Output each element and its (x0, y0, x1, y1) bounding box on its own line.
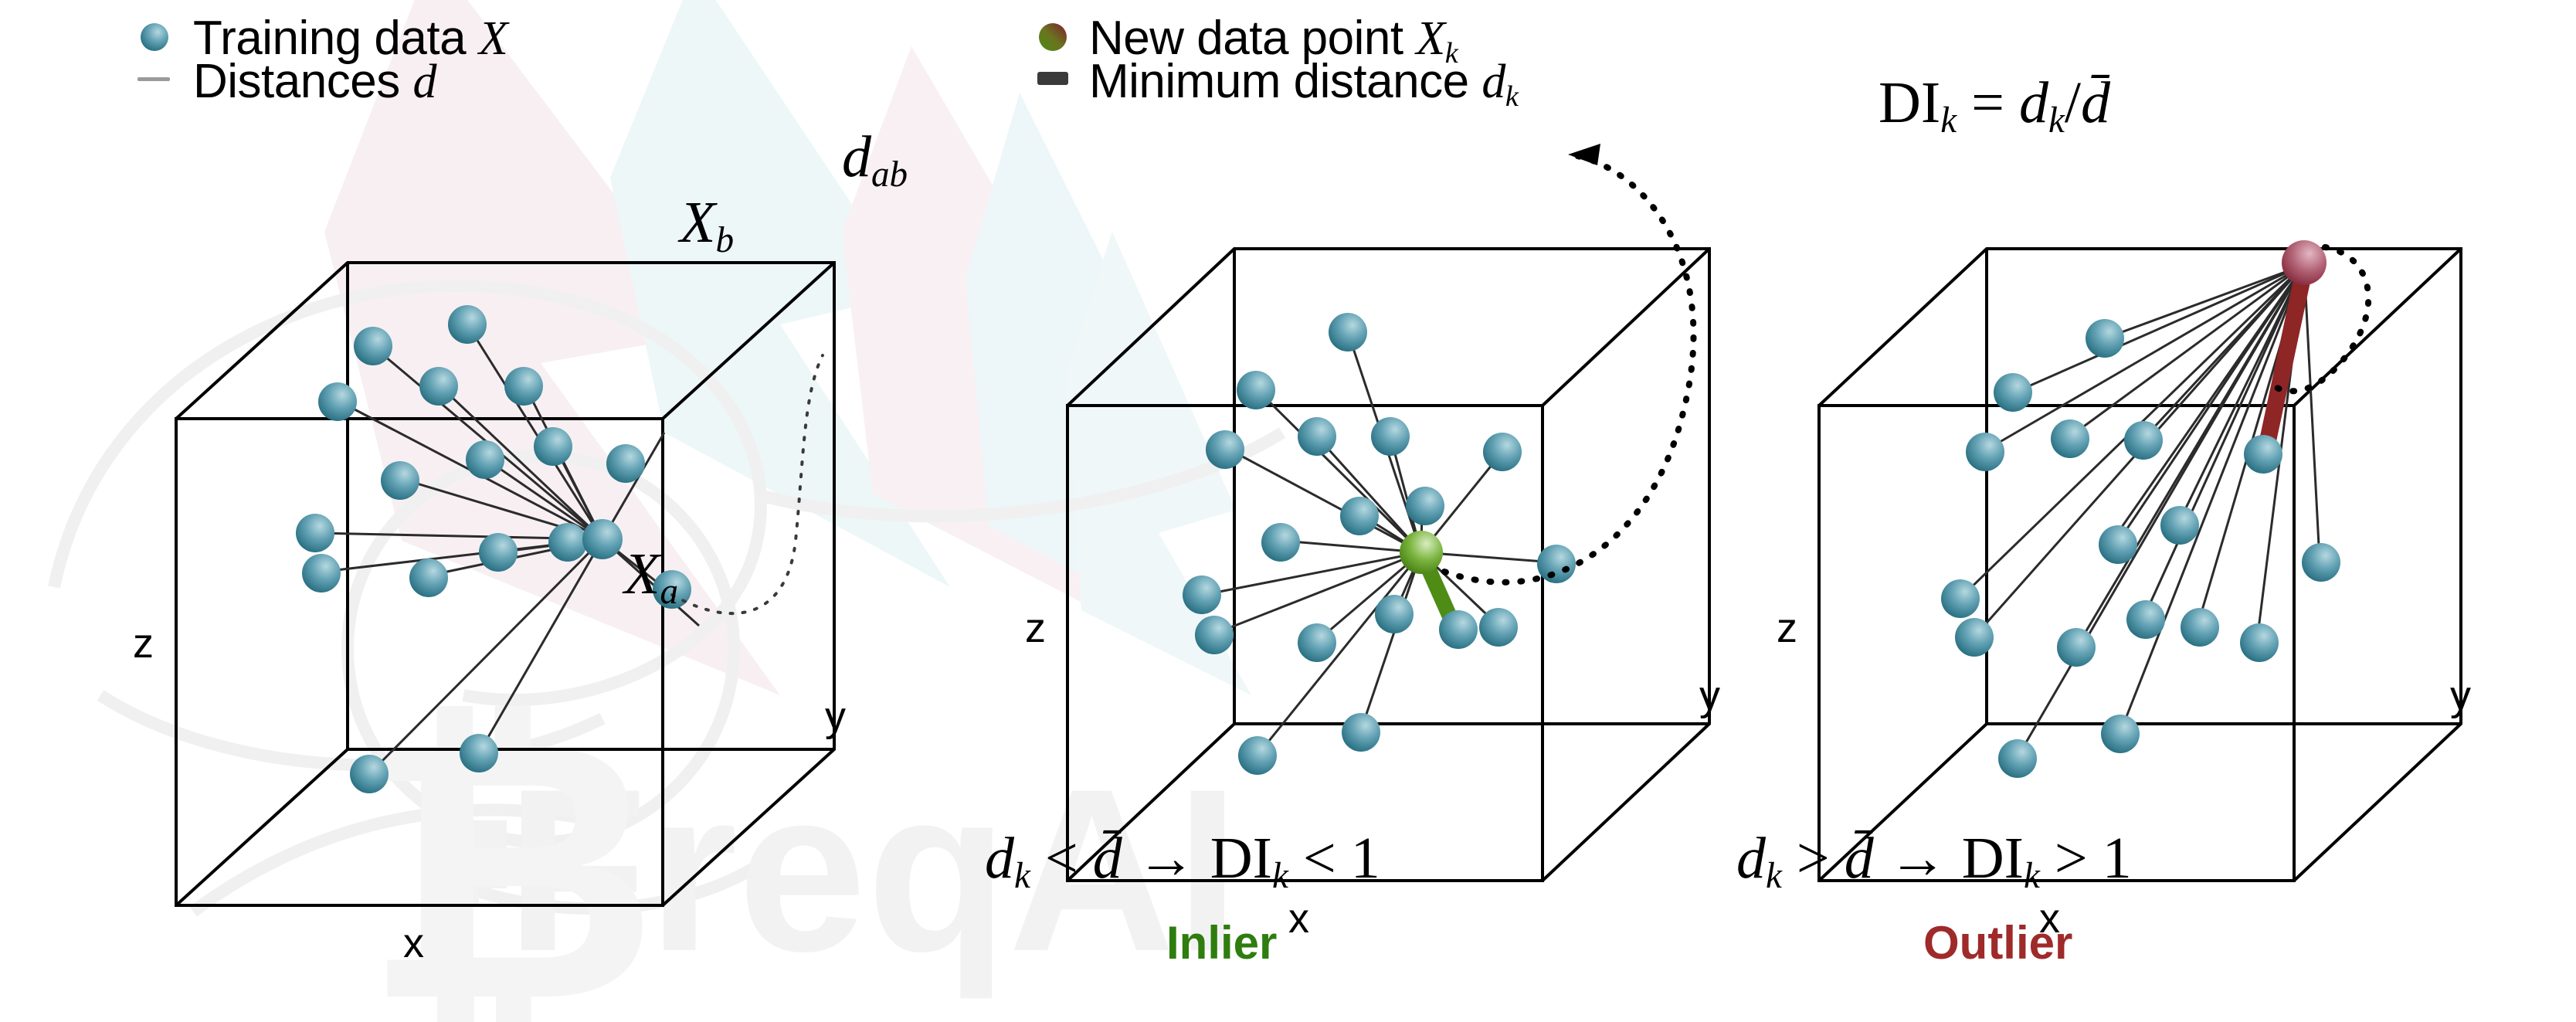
legend-symbol-dk: d (1481, 56, 1505, 108)
legend-item-distances: Distances d (193, 54, 436, 110)
outlier-rel: > (1797, 826, 1830, 891)
inlier-d-sub: k (1014, 856, 1030, 896)
xa-label: Xa (624, 541, 678, 613)
axis-label-y-2: y (1699, 672, 1720, 720)
inlier-di: DI (1210, 826, 1272, 891)
di-formula-eq: = (1971, 70, 2004, 135)
axis-label-z-2: z (1025, 604, 1046, 652)
inlier-rel2: < (1303, 826, 1336, 891)
legend-symbol-dk-sub: k (1505, 80, 1519, 113)
inlier-arrow: → (1137, 826, 1196, 891)
inlier-dbar: d̄ (1093, 826, 1122, 891)
point-xk-outlier (2282, 240, 2327, 285)
legend-symbol-X: X (479, 12, 507, 65)
outlier-d-sub: k (1766, 856, 1782, 896)
caption-formula-inlier: dk < d̄ → DIk < 1 (985, 825, 1380, 897)
dab-sub: ab (871, 154, 908, 195)
xb-sub: b (715, 220, 734, 260)
training-points-2 (1183, 313, 1576, 775)
outlier-arrow: → (1889, 826, 1947, 891)
legend-dash-dark-icon (1037, 72, 1068, 85)
di-formula-den: d̄ (2081, 70, 2110, 135)
outlier-value: 1 (2103, 826, 2132, 891)
di-formula-slash: / (2065, 70, 2081, 135)
di-formula-lhs: DI (1879, 70, 1940, 135)
dab-symbol: d (842, 124, 871, 189)
outlier-dbar: d̄ (1845, 826, 1874, 891)
panel-inlier (1067, 144, 1709, 881)
inlier-di-sub: k (1272, 856, 1288, 896)
dab-connector (672, 355, 823, 613)
dk-arrowhead (1568, 144, 1600, 165)
outlier-rel2: > (2055, 826, 2088, 891)
verdict-outlier: Outlier (1923, 916, 2072, 969)
axis-label-z-1: z (133, 620, 154, 667)
caption-formula-outlier: dk > d̄ → DIk > 1 (1736, 825, 2132, 897)
legend-label-min-distance: Minimum distance (1089, 55, 1469, 108)
legend-item-min-distance: Minimum distance dk (1089, 54, 1518, 114)
diagram-canvas: FreqAI ₿ (0, 0, 2576, 1022)
inlier-value: 1 (1351, 826, 1380, 891)
dab-label: dab (842, 124, 908, 195)
inlier-rel: < (1045, 826, 1078, 891)
di-formula-num: d (2019, 70, 2048, 135)
legend-label-distances: Distances (193, 55, 400, 108)
di-formula-lhs-sub: k (1940, 100, 1957, 141)
xa-sub: a (660, 572, 678, 612)
axis-label-y-3: y (2450, 672, 2471, 720)
xb-label: Xb (680, 189, 734, 261)
panel-training (176, 263, 834, 905)
outlier-di-sub: k (2024, 856, 2040, 896)
xb-symbol: X (680, 190, 715, 255)
panel-outlier (1819, 240, 2461, 881)
cube-wireframe-1 (176, 263, 834, 905)
dk-connector-inlier (1444, 154, 1694, 582)
outlier-di: DI (1962, 826, 2024, 891)
xa-symbol: X (624, 542, 660, 606)
point-xk-inlier (1400, 531, 1443, 574)
distance-lines-3 (1962, 265, 2320, 757)
axis-label-z-3: z (1777, 604, 1797, 652)
cube-wireframe-3 (1819, 249, 2461, 881)
di-formula-num-sub: k (2048, 100, 2065, 141)
legend-symbol-d: d (412, 56, 436, 108)
legend-dash-gray-icon (137, 77, 170, 81)
di-formula: DIk = dk/d̄ (1879, 70, 2110, 141)
legend-sphere-bicolor-icon (1039, 23, 1067, 51)
inlier-d: d (985, 826, 1014, 891)
axis-label-x-1: x (403, 919, 424, 967)
legend-sphere-teal-icon (141, 23, 168, 51)
point-xa (582, 519, 623, 559)
axis-label-y-1: y (825, 693, 846, 741)
outlier-d: d (1736, 826, 1766, 891)
verdict-inlier: Inlier (1166, 916, 1277, 969)
axis-label-x-2: x (1288, 895, 1309, 942)
